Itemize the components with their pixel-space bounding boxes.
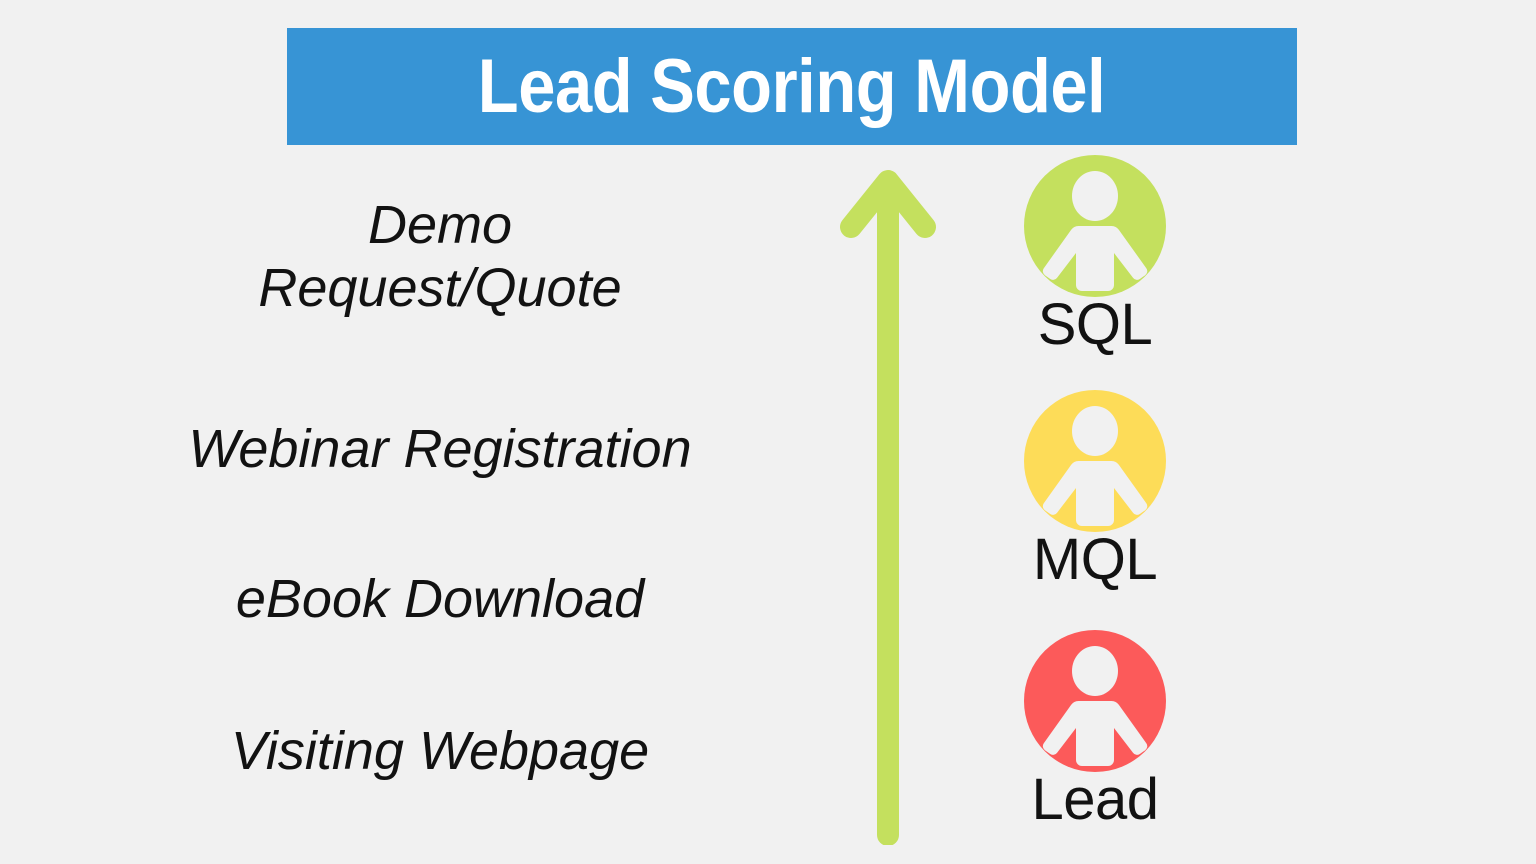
persona-sql: SQL	[980, 155, 1210, 355]
stage-label-visiting-webpage: Visiting Webpage	[60, 720, 820, 783]
stage-list: Demo Request/Quote Webinar Registration …	[60, 150, 820, 850]
person-icon-sql	[1024, 155, 1166, 297]
stage-label-demo-request: Demo Request/Quote	[60, 194, 820, 319]
persona-list: SQL MQL	[980, 155, 1210, 855]
persona-label-lead: Lead	[980, 770, 1210, 830]
title-bar: Lead Scoring Model	[287, 28, 1297, 145]
persona-mql: MQL	[980, 390, 1210, 590]
persona-lead: Lead	[980, 630, 1210, 830]
page-title: Lead Scoring Model	[478, 49, 1106, 125]
slide-canvas: Lead Scoring Model Demo Request/Quote We…	[0, 0, 1536, 864]
stage-label-webinar-registration: Webinar Registration	[60, 418, 820, 481]
persona-label-sql: SQL	[980, 295, 1210, 355]
stage-label-ebook-download: eBook Download	[60, 568, 820, 631]
persona-label-mql: MQL	[980, 530, 1210, 590]
person-icon-mql	[1024, 390, 1166, 532]
person-icon-lead	[1024, 630, 1166, 772]
up-arrow-icon	[838, 165, 938, 845]
